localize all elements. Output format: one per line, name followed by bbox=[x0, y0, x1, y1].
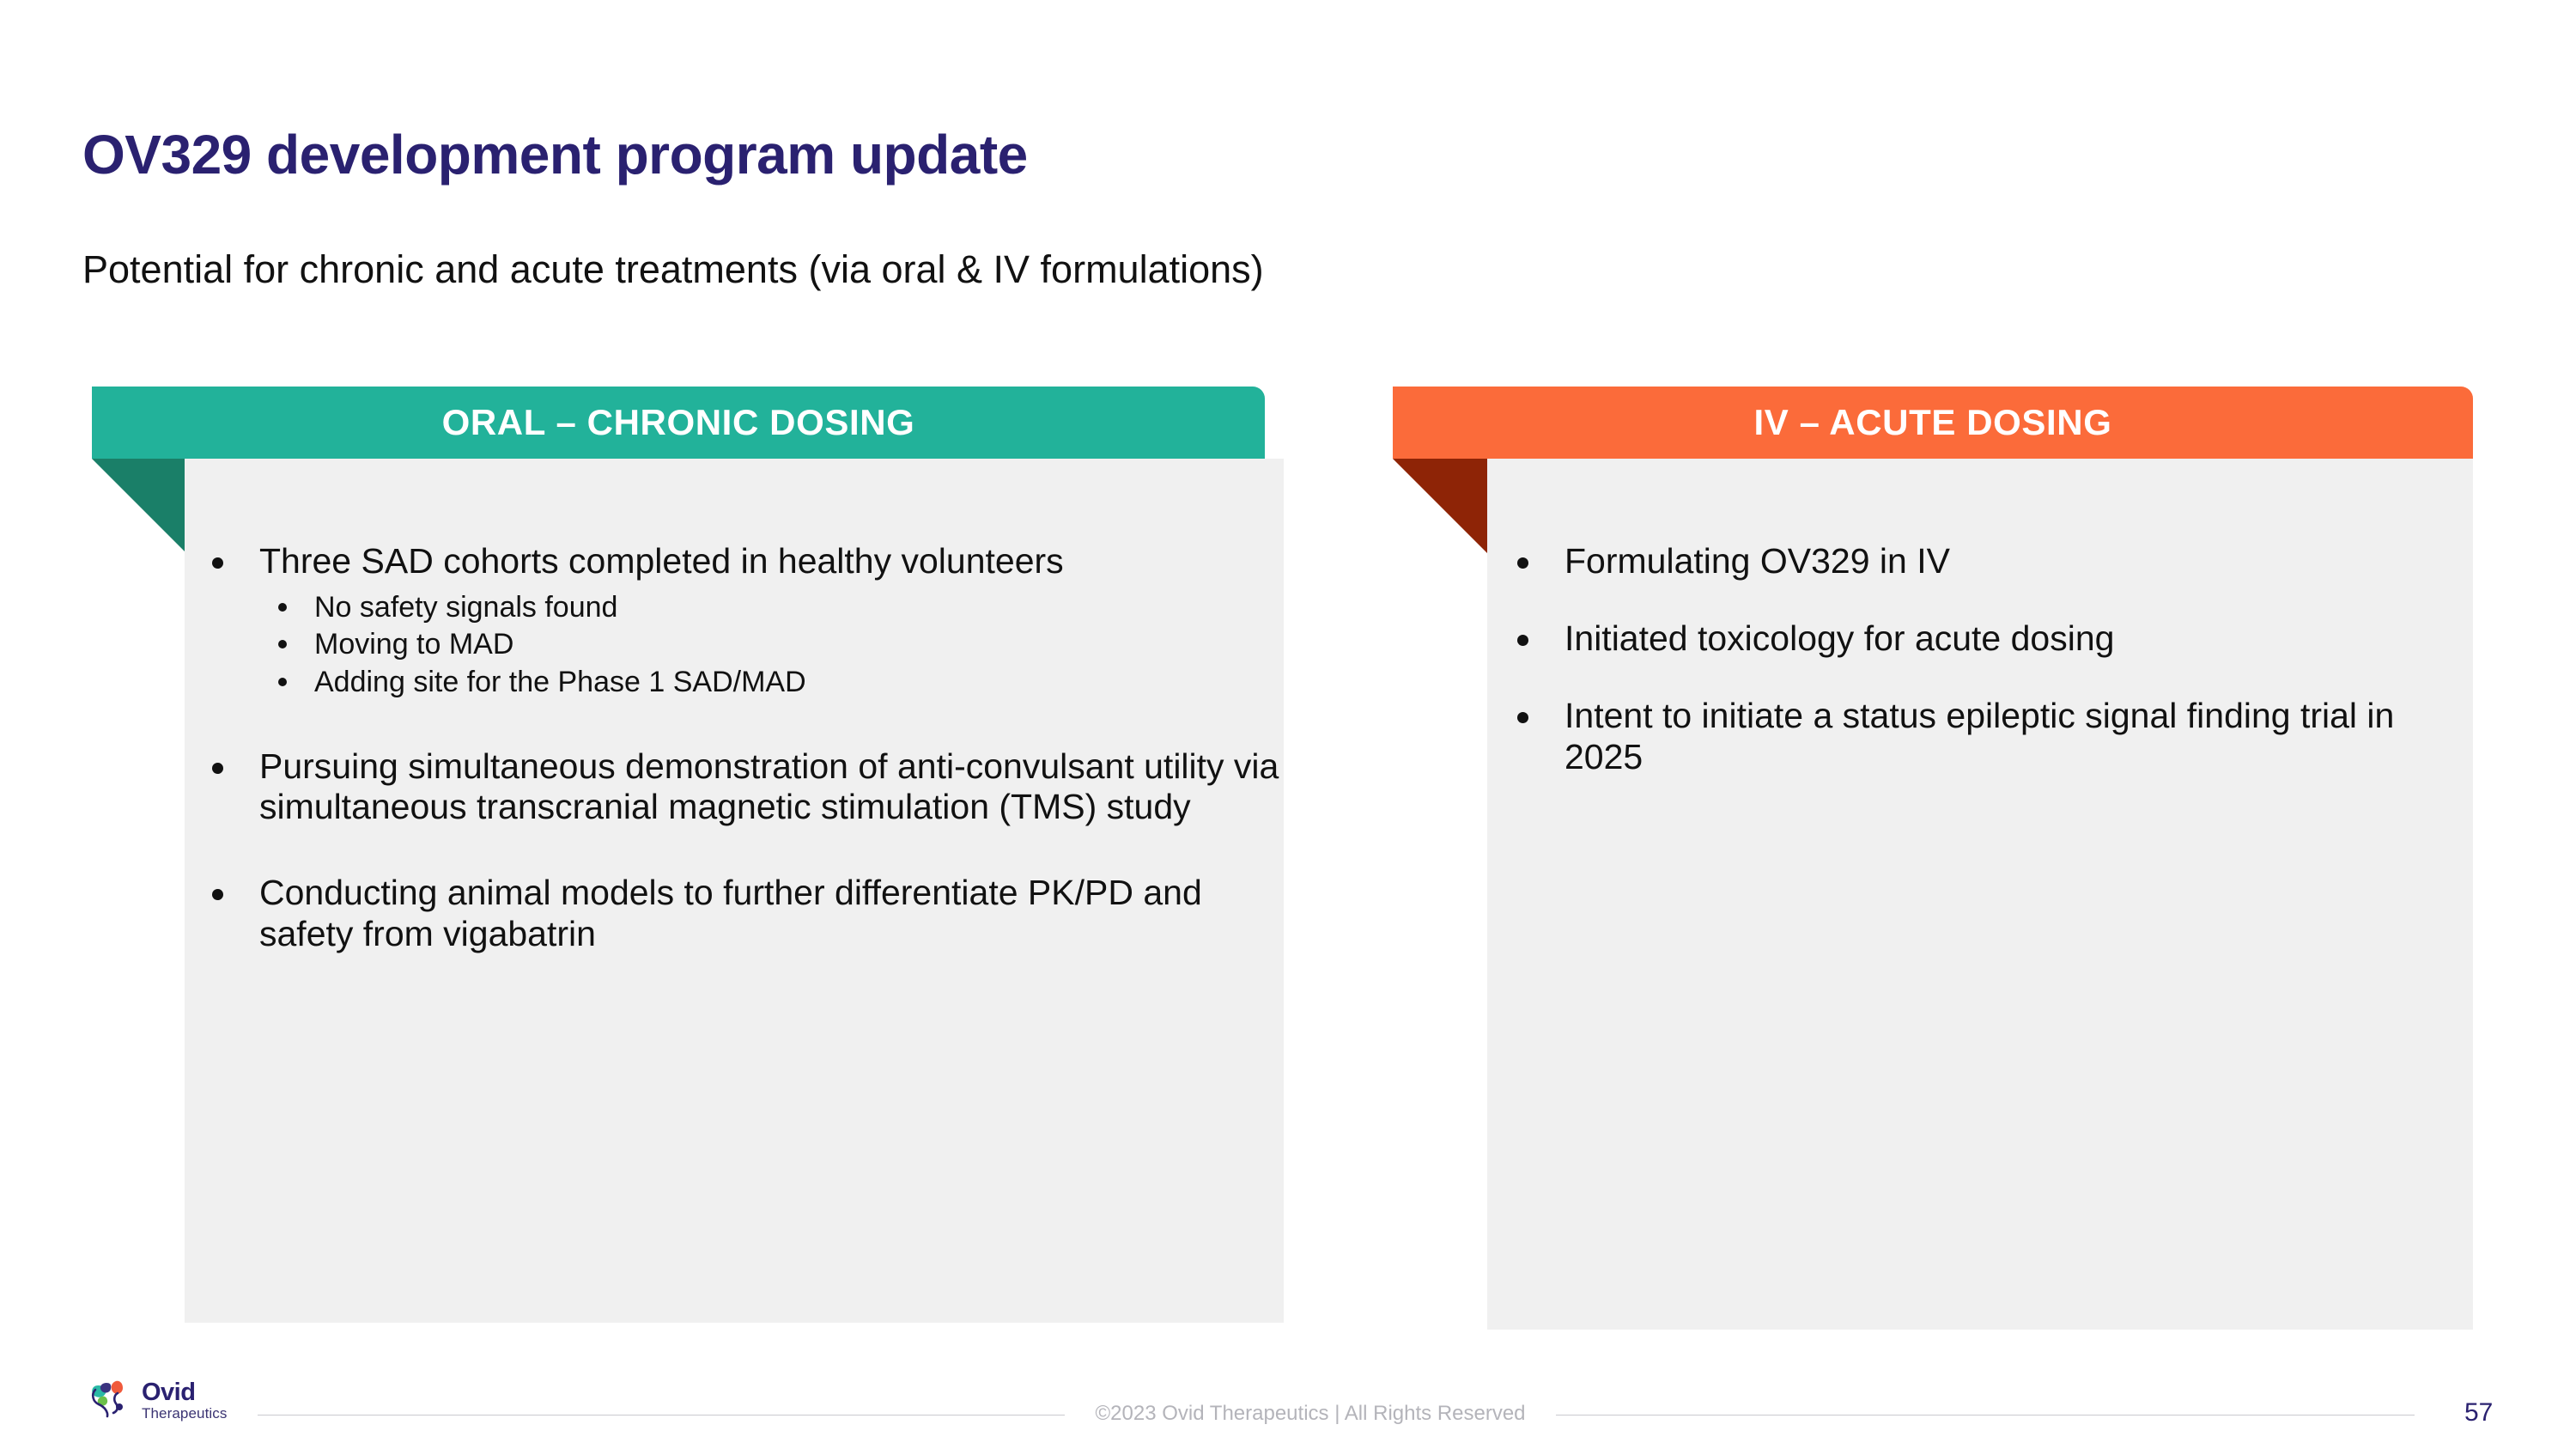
bullet-text: Three SAD cohorts completed in healthy v… bbox=[259, 541, 1064, 581]
footer-divider-left bbox=[258, 1415, 1065, 1416]
oral-bullet-list: Three SAD cohorts completed in healthy v… bbox=[197, 541, 1279, 955]
list-item: Formulating OV329 in IV bbox=[1503, 541, 2464, 582]
list-item: Three SAD cohorts completed in healthy v… bbox=[197, 541, 1279, 702]
ovid-logo-name: Ovid bbox=[142, 1380, 227, 1405]
list-item: Moving to MAD bbox=[259, 626, 1279, 664]
panel-oral-header-label: ORAL – CHRONIC DOSING bbox=[442, 402, 915, 443]
footer-copyright: ©2023 Ovid Therapeutics | All Rights Res… bbox=[1065, 1402, 1556, 1426]
ovid-brain-mark-icon bbox=[89, 1378, 136, 1423]
panel-oral-header: ORAL – CHRONIC DOSING bbox=[92, 387, 1265, 459]
page-title: OV329 development program update bbox=[82, 123, 1028, 186]
panel-iv-header: IV – ACUTE DOSING bbox=[1393, 387, 2473, 459]
panel-iv-header-label: IV – ACUTE DOSING bbox=[1753, 402, 2111, 443]
ovid-therapeutics-logo: Ovid Therapeutics bbox=[89, 1378, 227, 1423]
footer-divider-right bbox=[1556, 1415, 2415, 1416]
panel-iv-fold-corner bbox=[1393, 459, 1487, 553]
panel-oral-fold-corner bbox=[92, 459, 185, 551]
list-item: No safety signals found bbox=[259, 589, 1279, 627]
list-item: Pursuing simultaneous demonstration of a… bbox=[197, 746, 1279, 829]
ovid-wordmark: Ovid Therapeutics bbox=[142, 1380, 227, 1421]
page-number: 57 bbox=[2464, 1398, 2493, 1428]
list-item: Adding site for the Phase 1 SAD/MAD bbox=[259, 664, 1279, 702]
page-subtitle: Potential for chronic and acute treatmen… bbox=[82, 247, 1264, 292]
oral-sub-bullet-list: No safety signals found Moving to MAD Ad… bbox=[259, 589, 1279, 702]
slide-footer: Ovid Therapeutics ©2023 Ovid Therapeutic… bbox=[0, 1374, 2576, 1449]
list-item: Initiated toxicology for acute dosing bbox=[1503, 618, 2464, 660]
list-item: Intent to initiate a status epileptic si… bbox=[1503, 696, 2464, 778]
ovid-logo-subtitle: Therapeutics bbox=[142, 1406, 227, 1421]
iv-bullet-list: Formulating OV329 in IV Initiated toxico… bbox=[1503, 541, 2464, 778]
list-item: Conducting animal models to further diff… bbox=[197, 873, 1279, 955]
